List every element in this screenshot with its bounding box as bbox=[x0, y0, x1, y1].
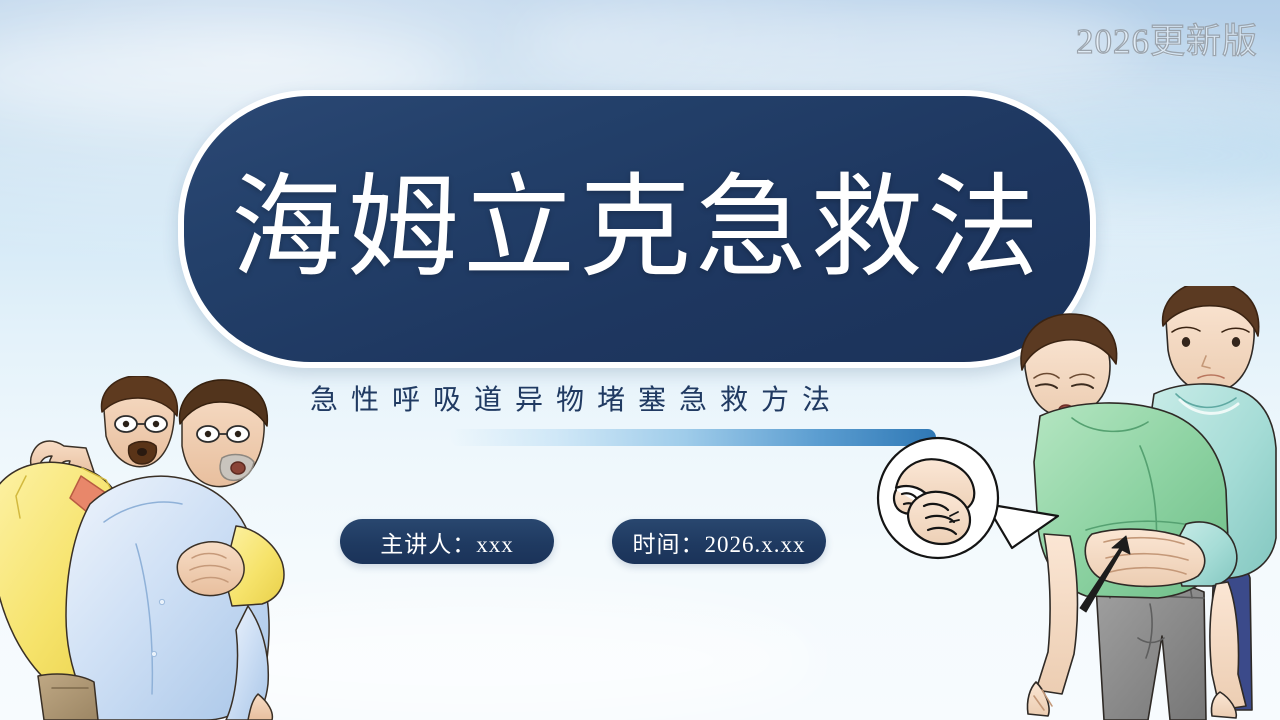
version-badge: 2026更新版 bbox=[1076, 24, 1258, 59]
fist-position-callout bbox=[862, 432, 1062, 572]
page-subtitle: 急性呼吸道异物堵塞急救方法 bbox=[310, 382, 843, 420]
presenter-pill[interactable]: 主讲人：xxx bbox=[340, 519, 554, 564]
slide-root: 2026更新版 海姆立克急救法 急性呼吸道异物堵塞急救方法 主讲人：xxx 时间… bbox=[0, 0, 1280, 720]
date-pill[interactable]: 时间：2026.x.xx bbox=[612, 519, 826, 564]
page-title: 海姆立克急救法 bbox=[231, 173, 1043, 285]
sky-wisp-b bbox=[520, 0, 1140, 100]
back-blows-illustration bbox=[0, 376, 296, 720]
title-plaque: 海姆立克急救法 bbox=[178, 90, 1096, 368]
